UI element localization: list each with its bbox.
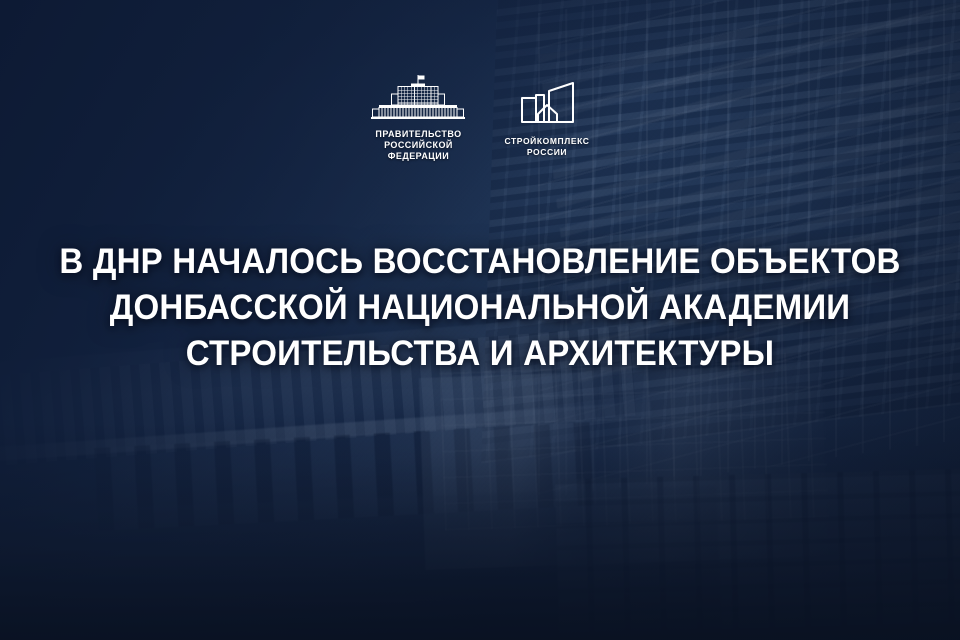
headline-line-3: СТРОИТЕЛЬСТВА И АРХИТЕКТУРЫ (53, 331, 907, 377)
logo-strip: ПРАВИТЕЛЬСТВО РОССИЙСКОЙ ФЕДЕРАЦИИ (0, 74, 960, 162)
stroykompleks-russia-logo: СТРОЙКОМПЛЕКС РОССИИ (504, 74, 589, 158)
government-of-russia-logo: ПРАВИТЕЛЬСТВО РОССИЙСКОЙ ФЕДЕРАЦИИ (370, 74, 466, 162)
buildings-outline-icon (516, 74, 578, 129)
banner-content: ПРАВИТЕЛЬСТВО РОССИЙСКОЙ ФЕДЕРАЦИИ (0, 0, 960, 640)
headline-line-1: В ДНР НАЧАЛОСЬ ВОССТАНОВЛЕНИЕ ОБЪЕКТОВ (53, 239, 907, 285)
headline: В ДНР НАЧАЛОСЬ ВОССТАНОВЛЕНИЕ ОБЪЕКТОВ Д… (26, 239, 933, 377)
headline-line-2: ДОНБАССКОЙ НАЦИОНАЛЬНОЙ АКАДЕМИИ (53, 285, 907, 331)
government-house-icon (370, 74, 466, 125)
government-of-russia-logo-text: ПРАВИТЕЛЬСТВО РОССИЙСКОЙ ФЕДЕРАЦИИ (375, 129, 461, 162)
news-banner: ПРАВИТЕЛЬСТВО РОССИЙСКОЙ ФЕДЕРАЦИИ (0, 0, 960, 640)
stroykompleks-russia-logo-text: СТРОЙКОМПЛЕКС РОССИИ (504, 136, 589, 158)
